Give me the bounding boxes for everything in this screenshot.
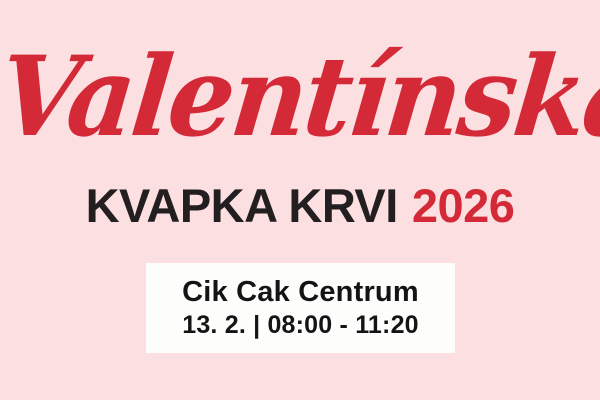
info-box: Cik Cak Centrum 13. 2. | 08:00 - 11:20 <box>146 263 455 353</box>
headline-script-line: Valentínska <box>0 24 600 169</box>
subheadline-line: KVAPKA KRVI 2026 <box>0 178 600 234</box>
headline-script-text: Valentínska <box>0 20 600 174</box>
poster-canvas: Valentínska KVAPKA KRVI 2026 Cik Cak Cen… <box>0 0 600 400</box>
subheadline-year-text: 2026 <box>412 180 515 232</box>
subheadline-main-text: KVAPKA KRVI <box>86 180 398 232</box>
venue-name: Cik Cak Centrum <box>182 275 419 309</box>
event-schedule: 13. 2. | 08:00 - 11:20 <box>182 309 419 341</box>
